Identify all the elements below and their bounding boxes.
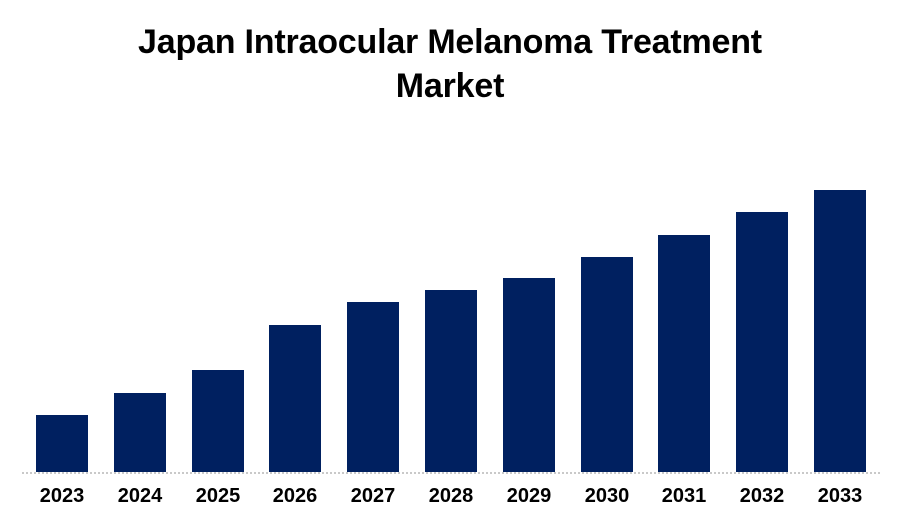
x-tick-label-2030: 2030 — [567, 483, 647, 509]
x-axis-tick-labels: 2023202420252026202720282029203020312032… — [0, 483, 900, 517]
bar-2024 — [114, 393, 166, 472]
x-tick-label-2026: 2026 — [255, 483, 335, 509]
x-tick-label-2031: 2031 — [644, 483, 724, 509]
chart-title: Japan Intraocular Melanoma Treatment Mar… — [0, 20, 900, 108]
bar-2031 — [658, 235, 710, 472]
plot-area — [0, 130, 900, 473]
bar-2028 — [425, 290, 477, 472]
x-tick-label-2027: 2027 — [333, 483, 413, 509]
x-tick-label-2023: 2023 — [22, 483, 102, 509]
bars-layer — [0, 130, 900, 472]
bar-2023 — [36, 415, 88, 472]
bar-2033 — [814, 190, 866, 472]
x-tick-label-2029: 2029 — [489, 483, 569, 509]
bar-2026 — [269, 325, 321, 472]
bar-2025 — [192, 370, 244, 472]
bar-2032 — [736, 212, 788, 472]
x-tick-label-2032: 2032 — [722, 483, 802, 509]
x-tick-label-2033: 2033 — [800, 483, 880, 509]
bar-chart-figure: Japan Intraocular Melanoma Treatment Mar… — [0, 0, 900, 525]
x-tick-label-2025: 2025 — [178, 483, 258, 509]
bar-2027 — [347, 302, 399, 472]
x-tick-label-2028: 2028 — [411, 483, 491, 509]
bar-2030 — [581, 257, 633, 472]
x-tick-label-2024: 2024 — [100, 483, 180, 509]
bar-2029 — [503, 278, 555, 472]
x-axis-line — [22, 472, 880, 474]
